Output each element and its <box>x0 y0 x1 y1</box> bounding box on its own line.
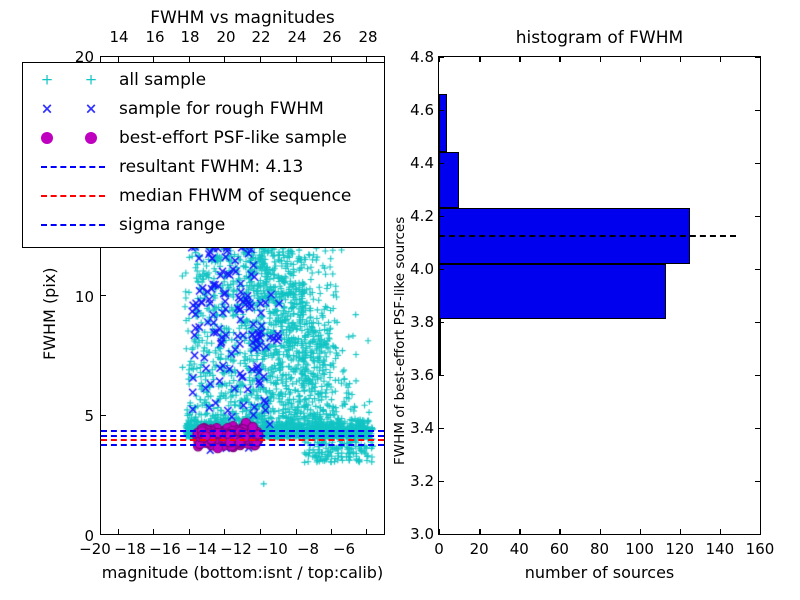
cross-icon: × <box>41 101 54 116</box>
histogram-xtick-label: 20 <box>457 540 501 558</box>
histogram-bar <box>439 264 666 320</box>
histogram-xtick-label: 140 <box>698 540 742 558</box>
histogram-ytick-label: 3.6 <box>396 366 434 384</box>
histogram-ytick-label: 4.8 <box>396 48 434 66</box>
left-xtick-b6: −8 <box>288 540 328 558</box>
histogram-bar <box>439 94 447 152</box>
legend-row-resultant-fwhm: resultant FWHM: 4.13 <box>23 152 384 181</box>
left-ylabel: FWHM (pix) <box>40 268 59 361</box>
histogram-xtick-mark <box>600 56 601 62</box>
cross-icon: × <box>85 101 98 116</box>
histogram-ytick-mark <box>755 110 761 111</box>
histogram-ytick-mark <box>438 481 444 482</box>
histogram-ytick-mark <box>755 216 761 217</box>
legend-row-median-fwhm: median FHWM of sequence <box>23 181 384 210</box>
histogram-ytick-label: 3.2 <box>396 472 434 490</box>
histogram-ytick-mark <box>438 110 444 111</box>
circle-icon <box>41 132 53 144</box>
dashdot-line-icon <box>41 224 105 226</box>
histogram-xtick-label: 80 <box>578 540 622 558</box>
median-fwhm-line <box>101 439 384 441</box>
histogram-ytick-mark <box>438 375 444 376</box>
histogram-xtick-mark <box>559 529 560 535</box>
left-xtick-t3: 20 <box>207 28 245 46</box>
histogram-xtick-label: 160 <box>738 540 782 558</box>
histogram-resultant-fwhm-line <box>439 235 736 237</box>
legend-label-psf-like: best-effort PSF-like sample <box>119 128 347 148</box>
left-ytickmark-0 <box>100 534 106 535</box>
left-xtick-t0: 14 <box>100 28 138 46</box>
legend-label-rough-fwhm: sample for rough FWHM <box>119 99 324 119</box>
histogram-xtick-mark <box>760 56 761 62</box>
dashed-line-icon <box>41 195 105 197</box>
histogram-ytick-mark <box>438 269 444 270</box>
histogram-xtick-label: 60 <box>537 540 581 558</box>
histogram-xtick-mark <box>600 529 601 535</box>
left-ytickmark-5 <box>100 415 106 416</box>
histogram-xtick-mark <box>479 56 480 62</box>
histogram-ytick-label: 3.8 <box>396 313 434 331</box>
left-panel-legend[interactable]: + + all sample × × sample for rough FWHM… <box>22 62 385 248</box>
legend-row-psf-like: best-effort PSF-like sample <box>23 123 384 152</box>
circle-icon <box>85 132 97 144</box>
left-panel-title: FWHM vs magnitudes <box>100 8 385 28</box>
histogram-ytick-mark <box>438 428 444 429</box>
legend-label-resultant-fwhm: resultant FWHM: 4.13 <box>119 157 303 177</box>
histogram-bar <box>439 152 459 208</box>
legend-marker-psf-like <box>29 123 117 152</box>
histogram-ytick-label: 4.2 <box>396 207 434 225</box>
left-xtick-b7: −6 <box>324 540 364 558</box>
histogram-xtick-label: 100 <box>618 540 662 558</box>
histogram-ytick-mark <box>755 481 761 482</box>
histogram-ytick-label: 4.4 <box>396 154 434 172</box>
histogram-ytick-mark <box>438 216 444 217</box>
dashed-line-icon <box>41 166 105 168</box>
left-ytickmark-10 <box>100 295 106 296</box>
left-xtick-t5: 24 <box>278 28 316 46</box>
sigma-range-upper-line <box>101 430 384 432</box>
histogram-ytick-label: 4.6 <box>396 101 434 119</box>
right-panel-title: histogram of FWHM <box>438 28 761 48</box>
legend-marker-resultant-fwhm <box>29 152 117 181</box>
histogram-ytick-mark <box>438 322 444 323</box>
histogram-xtick-label: 40 <box>497 540 541 558</box>
left-xtick-t6: 26 <box>313 28 351 46</box>
legend-row-all-sample: + + all sample <box>23 65 384 94</box>
histogram-xtick-mark <box>439 529 440 535</box>
left-ytick-10: 10 <box>60 288 94 306</box>
histogram-xtick-label: 0 <box>417 540 461 558</box>
left-xlabel: magnitude (bottom:isnt / top:calib) <box>100 563 385 582</box>
legend-marker-all-sample: + + <box>29 65 117 94</box>
histogram-ytick-mark <box>755 375 761 376</box>
legend-row-rough-fwhm: × × sample for rough FWHM <box>23 94 384 123</box>
histogram-plot-area <box>439 57 760 534</box>
left-xtick-t1: 16 <box>136 28 174 46</box>
legend-marker-median-fwhm <box>29 181 117 210</box>
resultant-fwhm-line <box>101 435 384 437</box>
legend-row-sigma-range: sigma range <box>23 210 384 239</box>
left-xtick-t2: 18 <box>171 28 209 46</box>
histogram-xtick-mark <box>559 56 560 62</box>
histogram-xtick-mark <box>720 529 721 535</box>
left-xtick-t7: 28 <box>349 28 387 46</box>
histogram-ytick-mark <box>755 269 761 270</box>
sigma-range-lower-line <box>101 444 384 446</box>
histogram-ytick-label: 4.0 <box>396 260 434 278</box>
histogram-xtick-mark <box>680 56 681 62</box>
legend-label-median-fwhm: median FHWM of sequence <box>119 186 351 206</box>
histogram-xtick-mark <box>680 529 681 535</box>
histogram-xtick-mark <box>760 529 761 535</box>
histogram-ytick-label: 3.4 <box>396 419 434 437</box>
legend-marker-sigma-range <box>29 210 117 239</box>
plus-icon: + <box>85 72 98 87</box>
right-xlabel: number of sources <box>438 563 761 582</box>
histogram-ytick-mark <box>438 163 444 164</box>
histogram-xtick-mark <box>479 529 480 535</box>
legend-marker-rough-fwhm: × × <box>29 94 117 123</box>
histogram-xtick-mark <box>720 56 721 62</box>
histogram-ytick-mark <box>755 163 761 164</box>
figure-canvas: FWHM vs magnitudes FWHM (pix) 0 5 10 20 … <box>0 0 800 600</box>
left-ytick-5: 5 <box>68 407 94 425</box>
histogram-xtick-mark <box>519 56 520 62</box>
plus-icon: + <box>41 72 54 87</box>
histogram-bar <box>439 319 441 375</box>
legend-label-all-sample: all sample <box>119 70 206 90</box>
histogram-ytick-mark <box>755 428 761 429</box>
histogram-xtick-label: 120 <box>658 540 702 558</box>
histogram-xtick-mark <box>640 56 641 62</box>
histogram-xtick-mark <box>640 529 641 535</box>
histogram-xtick-mark <box>439 56 440 62</box>
histogram-xtick-mark <box>519 529 520 535</box>
histogram-ytick-mark <box>755 322 761 323</box>
legend-label-sigma-range: sigma range <box>119 215 225 235</box>
left-xtick-t4: 22 <box>242 28 280 46</box>
